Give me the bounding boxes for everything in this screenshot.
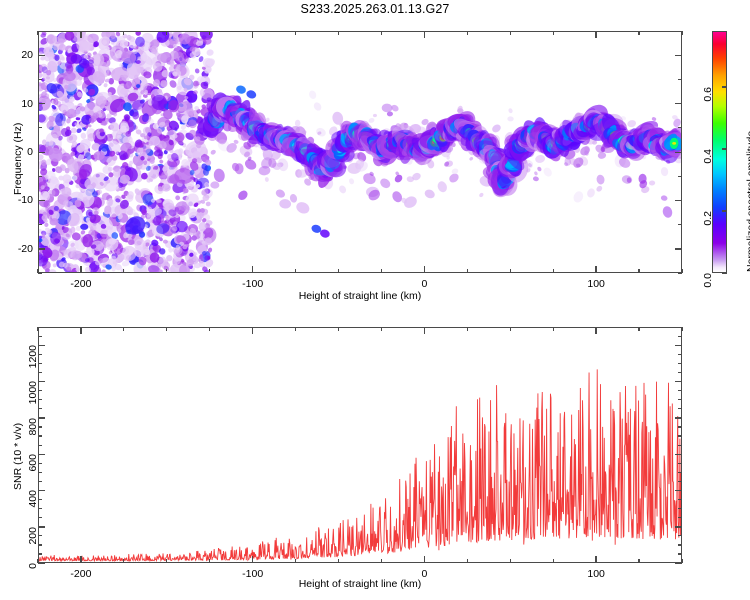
axis-tick <box>675 417 682 418</box>
axis-tick <box>678 544 682 545</box>
axis-tick <box>38 435 42 436</box>
axis-tick <box>675 381 682 382</box>
axis-tick-label: -200 <box>70 568 91 580</box>
axis-tick-label: 0 <box>421 278 427 290</box>
axis-tick <box>595 266 596 273</box>
axis-tick-label: 1200 <box>27 345 39 368</box>
axis-tick <box>467 269 468 273</box>
axis-tick <box>553 327 554 331</box>
axis-tick-label: -20 <box>18 243 33 255</box>
axis-tick <box>678 336 682 337</box>
axis-tick <box>38 345 45 346</box>
colorbar-label: Normalized spectral amplitude <box>745 131 750 272</box>
axis-tick <box>675 490 682 491</box>
axis-tick <box>638 31 639 35</box>
axis-tick <box>38 408 42 409</box>
axis-tick <box>381 269 382 273</box>
axis-tick-label: 10 <box>21 98 33 110</box>
axis-tick <box>467 559 468 563</box>
axis-tick <box>37 559 38 563</box>
axis-tick <box>678 363 682 364</box>
axis-tick <box>510 269 511 273</box>
axis-tick <box>678 508 682 509</box>
axis-tick <box>678 408 682 409</box>
axis-tick <box>675 454 682 455</box>
axis-tick <box>38 472 42 473</box>
snr-panel <box>38 327 682 563</box>
axis-tick <box>510 327 511 331</box>
axis-tick <box>681 31 682 35</box>
axis-tick <box>38 544 42 545</box>
axis-tick <box>37 269 38 273</box>
axis-tick <box>638 559 639 563</box>
axis-tick <box>38 563 45 564</box>
axis-tick <box>37 327 38 331</box>
axis-tick <box>595 31 596 38</box>
axis-tick <box>38 79 42 80</box>
axis-tick <box>38 490 45 491</box>
axis-tick-label: 100 <box>587 568 605 580</box>
spectrogram-panel <box>38 31 682 273</box>
axis-tick <box>38 127 42 128</box>
axis-tick <box>252 266 253 273</box>
axis-tick <box>678 224 682 225</box>
axis-tick <box>638 269 639 273</box>
colorbar-tick <box>722 86 727 87</box>
axis-tick <box>381 31 382 35</box>
axis-tick-label: 1000 <box>27 381 39 404</box>
axis-tick <box>678 127 682 128</box>
axis-tick <box>381 327 382 331</box>
axis-tick <box>38 152 45 153</box>
axis-tick <box>123 269 124 273</box>
axis-tick <box>678 399 682 400</box>
axis-tick <box>38 372 42 373</box>
axis-tick <box>38 499 42 500</box>
axis-tick <box>295 559 296 563</box>
axis-tick-label: -200 <box>70 278 91 290</box>
axis-tick <box>166 31 167 35</box>
axis-tick <box>38 417 45 418</box>
axis-tick <box>38 463 42 464</box>
axis-tick <box>678 472 682 473</box>
axis-tick-label: -100 <box>242 568 263 580</box>
axis-tick <box>424 266 425 273</box>
axis-tick <box>678 426 682 427</box>
axis-tick <box>678 354 682 355</box>
axis-tick <box>38 55 45 56</box>
axis-tick <box>37 31 38 35</box>
axis-tick <box>338 559 339 563</box>
axis-tick <box>467 31 468 35</box>
spectrogram-ylabel: Frequency (Hz) <box>12 123 24 195</box>
axis-tick <box>38 445 42 446</box>
axis-tick <box>424 327 425 334</box>
axis-tick <box>38 248 45 249</box>
axis-tick <box>338 269 339 273</box>
axis-tick <box>424 31 425 38</box>
colorbar-tick-label: 0.2 <box>702 211 714 226</box>
snr-polyline <box>39 369 681 561</box>
colorbar-ticks <box>712 31 727 273</box>
colorbar-tick-label: 0.6 <box>702 87 714 102</box>
axis-tick <box>38 224 42 225</box>
axis-tick-label: -10 <box>18 194 33 206</box>
snr-trace <box>39 328 681 562</box>
axis-tick <box>295 31 296 35</box>
axis-tick <box>678 553 682 554</box>
figure-root: S233.2025.263.01.13.G27 20100-10-20-200-… <box>0 0 750 600</box>
axis-tick <box>553 559 554 563</box>
axis-tick <box>38 535 42 536</box>
axis-tick <box>678 517 682 518</box>
axis-tick <box>675 103 682 104</box>
axis-tick <box>678 390 682 391</box>
axis-tick <box>38 176 42 177</box>
axis-tick <box>209 327 210 331</box>
axis-tick <box>675 345 682 346</box>
axis-tick <box>681 269 682 273</box>
axis-tick <box>675 55 682 56</box>
axis-tick <box>638 327 639 331</box>
axis-tick <box>123 559 124 563</box>
colorbar-tick-label: 0.0 <box>702 273 714 288</box>
axis-tick <box>678 435 682 436</box>
axis-tick <box>678 445 682 446</box>
colorbar-tick <box>722 210 727 211</box>
axis-tick <box>166 559 167 563</box>
axis-tick <box>80 327 81 334</box>
axis-tick <box>38 381 45 382</box>
axis-tick <box>38 363 42 364</box>
axis-tick <box>80 556 81 563</box>
axis-tick <box>467 327 468 331</box>
spectrogram-xlabel: Height of straight line (km) <box>299 290 422 302</box>
axis-tick <box>209 559 210 563</box>
axis-tick <box>38 454 45 455</box>
axis-tick <box>381 559 382 563</box>
axis-tick <box>295 327 296 331</box>
axis-tick-label: 0 <box>27 146 33 158</box>
axis-tick <box>38 31 42 32</box>
axis-tick <box>252 31 253 38</box>
snr-ylabel: SNR (10 * v/v) <box>12 423 24 490</box>
axis-tick <box>595 327 596 334</box>
spectrogram-image <box>39 32 681 272</box>
axis-tick <box>38 553 42 554</box>
axis-tick <box>166 269 167 273</box>
axis-tick <box>38 399 42 400</box>
axis-tick <box>38 508 42 509</box>
axis-tick <box>510 31 511 35</box>
axis-tick <box>553 31 554 35</box>
axis-tick <box>123 31 124 35</box>
axis-tick <box>166 327 167 331</box>
axis-tick <box>38 200 45 201</box>
axis-tick <box>38 526 45 527</box>
axis-tick <box>38 517 42 518</box>
axis-tick <box>38 426 42 427</box>
axis-tick <box>678 372 682 373</box>
axis-tick <box>678 79 682 80</box>
axis-tick <box>38 273 42 274</box>
axis-tick <box>675 248 682 249</box>
axis-tick <box>678 535 682 536</box>
axis-tick <box>38 481 42 482</box>
axis-tick <box>123 327 124 331</box>
axis-tick <box>678 481 682 482</box>
axis-tick <box>38 103 45 104</box>
colorbar-tick-label: 0.4 <box>702 149 714 164</box>
axis-tick <box>675 152 682 153</box>
axis-tick <box>295 269 296 273</box>
axis-tick <box>38 327 42 328</box>
axis-tick <box>678 463 682 464</box>
axis-tick <box>338 327 339 331</box>
axis-tick <box>595 556 596 563</box>
axis-tick <box>209 31 210 35</box>
colorbar-tick <box>722 273 727 274</box>
axis-tick <box>80 266 81 273</box>
snr-xlabel: Height of straight line (km) <box>299 578 422 590</box>
axis-tick <box>681 559 682 563</box>
axis-tick-label: 20 <box>21 49 33 61</box>
axis-tick-label: 0 <box>27 563 39 569</box>
axis-tick <box>252 556 253 563</box>
axis-tick-label: -100 <box>242 278 263 290</box>
axis-tick <box>338 31 339 35</box>
axis-tick <box>681 327 682 331</box>
axis-tick <box>510 559 511 563</box>
figure-title: S233.2025.263.01.13.G27 <box>0 2 750 16</box>
axis-tick-label: 0 <box>421 568 427 580</box>
axis-tick <box>675 526 682 527</box>
axis-tick-label: 100 <box>587 278 605 290</box>
axis-tick <box>38 354 42 355</box>
axis-tick <box>553 269 554 273</box>
axis-tick <box>678 499 682 500</box>
axis-tick <box>424 556 425 563</box>
axis-tick <box>675 200 682 201</box>
axis-tick <box>209 269 210 273</box>
axis-tick <box>252 327 253 334</box>
axis-tick <box>38 390 42 391</box>
axis-tick <box>80 31 81 38</box>
colorbar-tick <box>722 148 727 149</box>
axis-tick <box>678 176 682 177</box>
axis-tick <box>38 336 42 337</box>
